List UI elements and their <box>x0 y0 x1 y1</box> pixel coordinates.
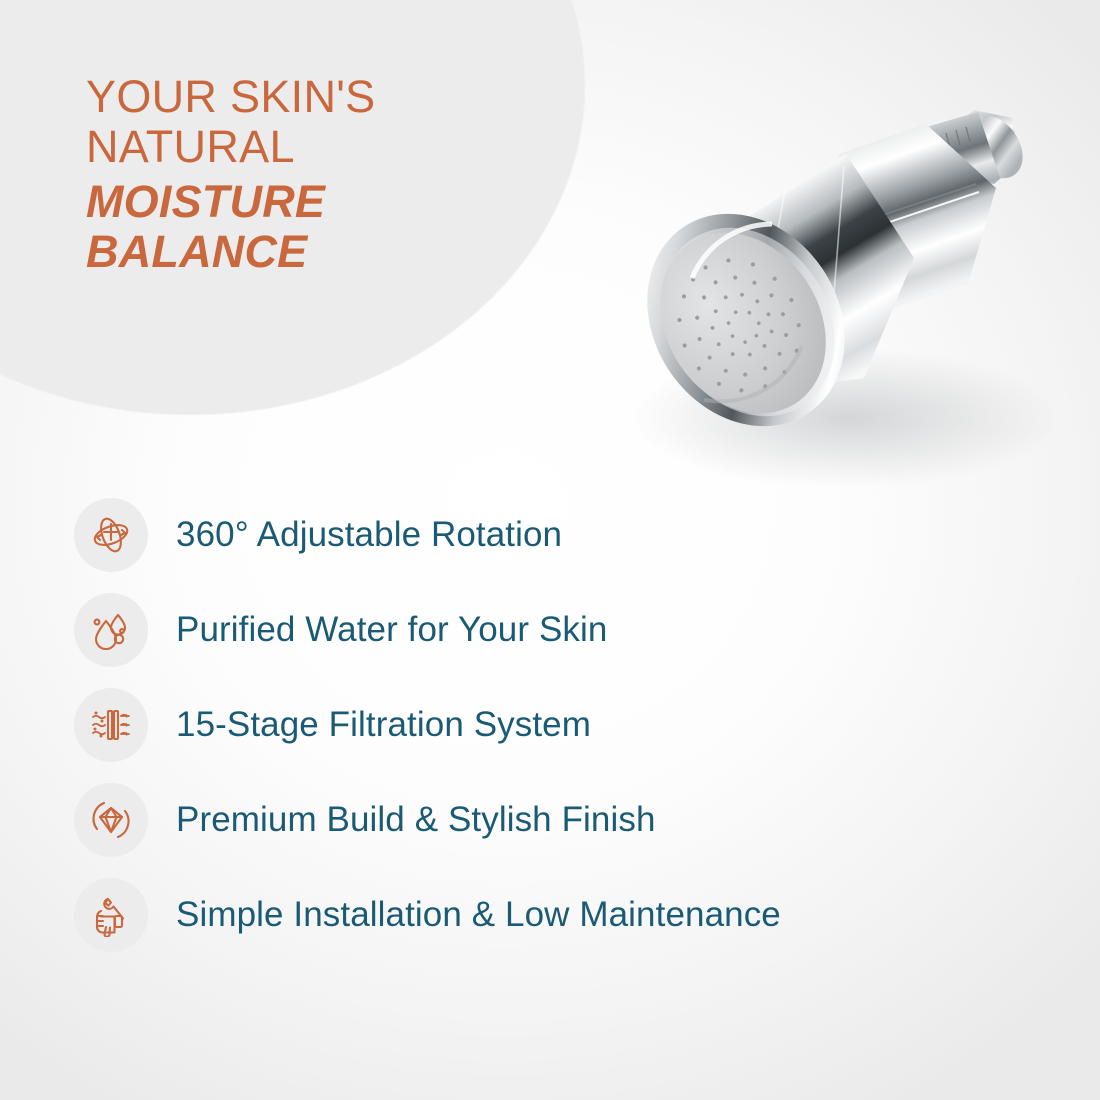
filtration-layers-icon <box>74 688 148 762</box>
headline-line-1: YOUR SKIN'S NATURAL <box>86 72 516 171</box>
diamond-quality-icon <box>74 783 148 857</box>
rotation-360-icon <box>74 498 148 572</box>
feature-item: Simple Installation & Low Maintenance <box>74 878 1034 952</box>
feature-label: 360° Adjustable Rotation <box>176 515 562 555</box>
feature-item: 15-Stage Filtration System <box>74 688 1034 762</box>
feature-list: 360° Adjustable Rotation Purified Water … <box>74 498 1034 952</box>
feature-label: Premium Build & Stylish Finish <box>176 800 656 840</box>
product-image-showerhead <box>596 88 1066 488</box>
page-title: YOUR SKIN'S NATURAL MOISTURE BALANCE <box>86 72 516 276</box>
headline-line-2: MOISTURE BALANCE <box>86 177 516 276</box>
water-droplets-icon <box>74 593 148 667</box>
hand-wrench-icon <box>74 878 148 952</box>
feature-label: 15-Stage Filtration System <box>176 705 591 745</box>
feature-label: Simple Installation & Low Maintenance <box>176 895 781 935</box>
feature-label: Purified Water for Your Skin <box>176 610 607 650</box>
feature-item: 360° Adjustable Rotation <box>74 498 1034 572</box>
feature-item: Premium Build & Stylish Finish <box>74 783 1034 857</box>
product-feature-poster: YOUR SKIN'S NATURAL MOISTURE BALANCE <box>0 0 1100 1100</box>
feature-item: Purified Water for Your Skin <box>74 593 1034 667</box>
